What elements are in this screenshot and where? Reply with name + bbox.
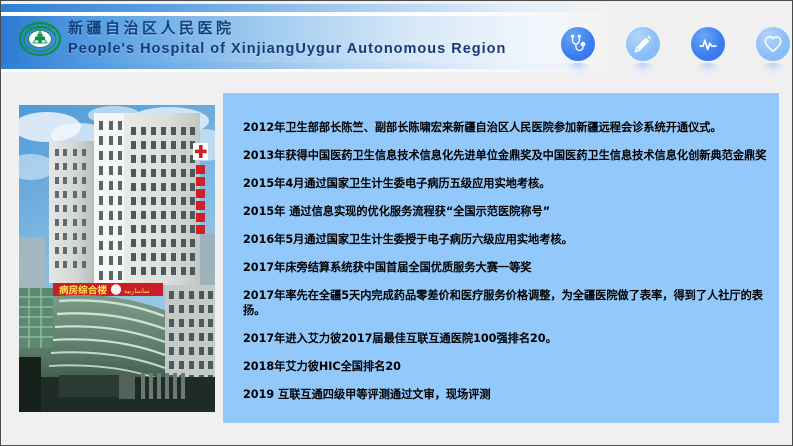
list-item: 2012年卫生部部长陈竺、副部长陈啸宏来新疆自治区人民医院参加新疆远程会诊系统开… <box>243 120 767 135</box>
syringe-icon[interactable] <box>626 27 660 61</box>
stethoscope-icon-reflection <box>564 63 592 75</box>
page-header: 新疆自治区人民医院 新疆自治区人民医院 People's Hospital of… <box>1 1 793 73</box>
stethoscope-icon-wrapper[interactable] <box>561 27 595 71</box>
list-item: 2016年5月通过国家卫生计生委授于电子病历六级应用实地考核。 <box>243 232 767 247</box>
list-item: 2017年床旁结算系统获中国首届全国优质服务大赛一等奖 <box>243 260 767 275</box>
heartbeat-pulse-icon-reflection <box>694 63 722 75</box>
heart-icon-wrapper[interactable] <box>756 27 790 71</box>
svg-text:病房综合楼: 病房综合楼 <box>59 284 107 296</box>
header-icon-row <box>561 27 791 71</box>
heartbeat-pulse-icon[interactable] <box>691 27 725 61</box>
svg-text:سانىتارىيە: سانىتارىيە <box>124 287 150 295</box>
header-bottom-white-line <box>1 69 609 72</box>
list-item: 2019 互联互通四级甲等评测通过文审，现场评测 <box>243 387 767 402</box>
list-item: 2013年获得中国医药卫生信息技术信息化先进单位金鼎奖及中国医药卫生信息技术信息… <box>243 148 767 163</box>
heart-icon-reflection <box>759 63 787 75</box>
stethoscope-icon[interactable] <box>561 27 595 61</box>
syringe-icon-wrapper[interactable] <box>626 27 660 71</box>
heart-icon[interactable] <box>756 27 790 61</box>
list-item: 2017年率先在全疆5天内完成药品零差价和医疗服务价格调整，为全疆医院做了表率，… <box>243 288 767 318</box>
hospital-building-photo: 病房综合楼 سانىتارىيە <box>19 105 215 412</box>
slide-canvas: 新疆自治区人民医院 新疆自治区人民医院 People's Hospital of… <box>0 0 793 446</box>
list-item: 2015年 通过信息实现的优化服务流程获“全国示范医院称号” <box>243 204 767 219</box>
syringe-icon-reflection <box>629 63 657 75</box>
header-title-en: People's Hospital of XinjiangUygur Auton… <box>68 39 506 59</box>
content-panel: 2012年卫生部部长陈竺、副部长陈啸宏来新疆自治区人民医院参加新疆远程会诊系统开… <box>223 93 779 423</box>
list-item: 2017年进入艾力彼2017届最佳互联互通医院100强排名20。 <box>243 331 767 346</box>
header-top-gradient-bar <box>1 4 609 12</box>
header-titles: 新疆自治区人民医院 People's Hospital of XinjiangU… <box>68 19 506 59</box>
list-item: 2015年4月通过国家卫生计生委电子病历五级应用实地考核。 <box>243 176 767 191</box>
header-title-cn: 新疆自治区人民医院 <box>68 19 506 38</box>
hospital-emblem-icon: 新疆自治区人民医院 <box>19 22 61 56</box>
achievements-list: 2012年卫生部部长陈竺、副部长陈啸宏来新疆自治区人民医院参加新疆远程会诊系统开… <box>243 120 767 402</box>
list-item: 2018年艾力彼HIC全国排名20 <box>243 359 767 374</box>
heartbeat-pulse-icon-wrapper[interactable] <box>691 27 725 71</box>
svg-text:新疆自治区人民医院: 新疆自治区人民医院 <box>26 25 54 30</box>
